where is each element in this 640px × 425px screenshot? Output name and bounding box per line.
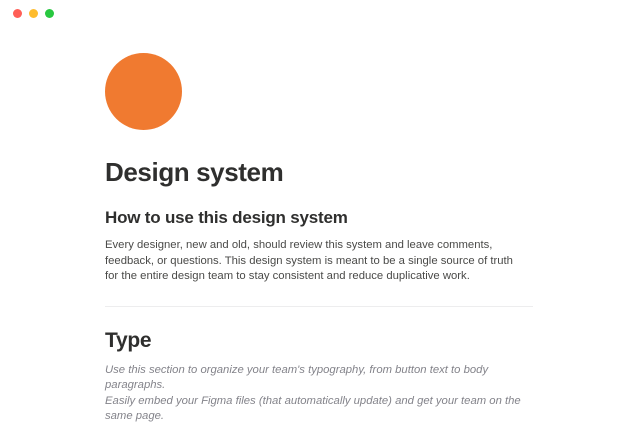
section-heading-how-to-use: How to use this design system [105, 207, 535, 228]
title-bar [0, 0, 640, 26]
section-divider [105, 306, 533, 307]
section-note-type-line-2: Easily embed your Figma files (that auto… [105, 394, 535, 425]
minimize-dot-icon[interactable] [29, 9, 38, 18]
section-paragraph-how-to-use: Every designer, new and old, should revi… [105, 238, 529, 285]
section-heading-type: Type [105, 328, 535, 353]
section-note-type: Use this section to organize your team's… [105, 363, 535, 425]
window-controls [13, 9, 54, 18]
document-content: Design system How to use this design sys… [105, 26, 535, 425]
page-title: Design system [105, 157, 535, 187]
avatar-circle-icon[interactable] [105, 53, 182, 130]
section-note-type-line-1: Use this section to organize your team's… [105, 363, 535, 394]
close-dot-icon[interactable] [13, 9, 22, 18]
app-window: Design system How to use this design sys… [0, 0, 640, 400]
maximize-dot-icon[interactable] [45, 9, 54, 18]
